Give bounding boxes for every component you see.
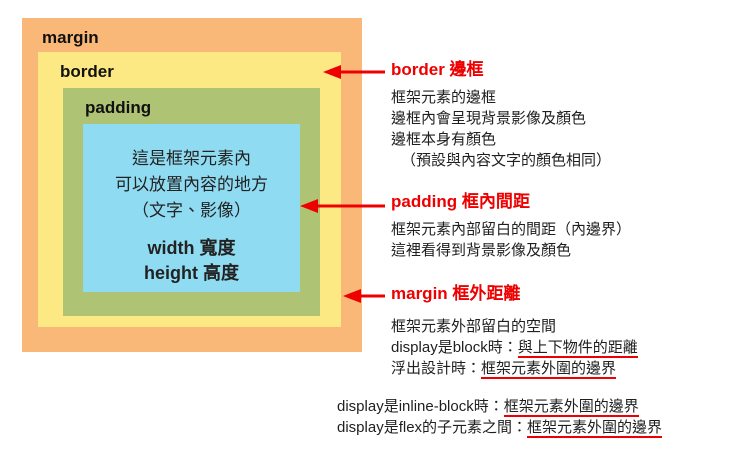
annotation-border-line-4: （預設與內容文字的顏色相同）	[391, 150, 611, 171]
content-line-2: 可以放置內容的地方	[83, 172, 300, 198]
annotation-extra-line-2-text: display是flex的子元素之間：	[337, 419, 527, 436]
annotation-border-title: border 邊框	[391, 61, 611, 78]
annotation-extra: display是inline-block時：框架元素外圍的邊界 display是…	[337, 396, 662, 438]
annotation-margin-line-3-text: 浮出設計時：	[391, 360, 481, 377]
annotation-padding-line-1: 框架元素內部留白的間距（內邊界）	[391, 219, 631, 240]
padding-label: padding	[85, 99, 151, 116]
annotation-margin-title: margin 框外距離	[391, 285, 638, 302]
annotation-margin: margin 框外距離 框架元素外部留白的空間 display是block時：與…	[391, 285, 638, 379]
content-description: 這是框架元素內 可以放置內容的地方 （文字、影像） width 寬度 heigh…	[83, 146, 300, 286]
annotation-border-line-2: 邊框內會呈現背景影像及顏色	[391, 108, 611, 129]
content-width-label: width 寬度	[83, 236, 300, 261]
annotation-padding-line-2: 這裡看得到背景影像及顏色	[391, 240, 631, 261]
annotation-padding: padding 框內間距 框架元素內部留白的間距（內邊界） 這裡看得到背景影像及…	[391, 193, 631, 261]
annotation-margin-line-2: display是block時：與上下物件的距離	[391, 337, 638, 358]
border-label: border	[60, 63, 114, 80]
annotation-border: border 邊框 框架元素的邊框 邊框內會呈現背景影像及顏色 邊框本身有顏色 …	[391, 61, 611, 171]
annotation-extra-line-2-emphasis: 框架元素外圍的邊界	[527, 419, 662, 438]
annotation-border-line-3: 邊框本身有顏色	[391, 129, 611, 150]
content-line-1: 這是框架元素內	[83, 146, 300, 172]
box-model-diagram: margin border padding 這是框架元素內 可以放置內容的地方 …	[22, 18, 362, 352]
annotation-margin-line-3-emphasis: 框架元素外圍的邊界	[481, 360, 616, 379]
content-height-label: height 高度	[83, 261, 300, 286]
annotation-margin-line-3: 浮出設計時：框架元素外圍的邊界	[391, 358, 638, 379]
annotation-border-body: 框架元素的邊框 邊框內會呈現背景影像及顏色 邊框本身有顏色 （預設與內容文字的顏…	[391, 87, 611, 171]
annotation-extra-line-1: display是inline-block時：框架元素外圍的邊界	[337, 396, 662, 417]
annotation-extra-line-1-text: display是inline-block時：	[337, 398, 504, 415]
content-layer: 這是框架元素內 可以放置內容的地方 （文字、影像） width 寬度 heigh…	[83, 124, 300, 292]
content-line-3: （文字、影像）	[83, 198, 300, 224]
annotation-margin-line-1: 框架元素外部留白的空間	[391, 316, 638, 337]
annotation-extra-line-2: display是flex的子元素之間：框架元素外圍的邊界	[337, 417, 662, 438]
annotation-border-line-1: 框架元素的邊框	[391, 87, 611, 108]
annotation-margin-body: 框架元素外部留白的空間 display是block時：與上下物件的距離 浮出設計…	[391, 316, 638, 379]
annotation-extra-line-1-emphasis: 框架元素外圍的邊界	[504, 398, 639, 417]
annotation-margin-line-2-text: display是block時：	[391, 339, 518, 356]
annotation-padding-title: padding 框內間距	[391, 193, 631, 210]
annotation-margin-line-2-emphasis: 與上下物件的距離	[518, 339, 638, 358]
annotation-margin-line-1-text: 框架元素外部留白的空間	[391, 318, 556, 335]
margin-label: margin	[42, 29, 99, 46]
annotation-padding-body: 框架元素內部留白的間距（內邊界） 這裡看得到背景影像及顏色	[391, 219, 631, 261]
